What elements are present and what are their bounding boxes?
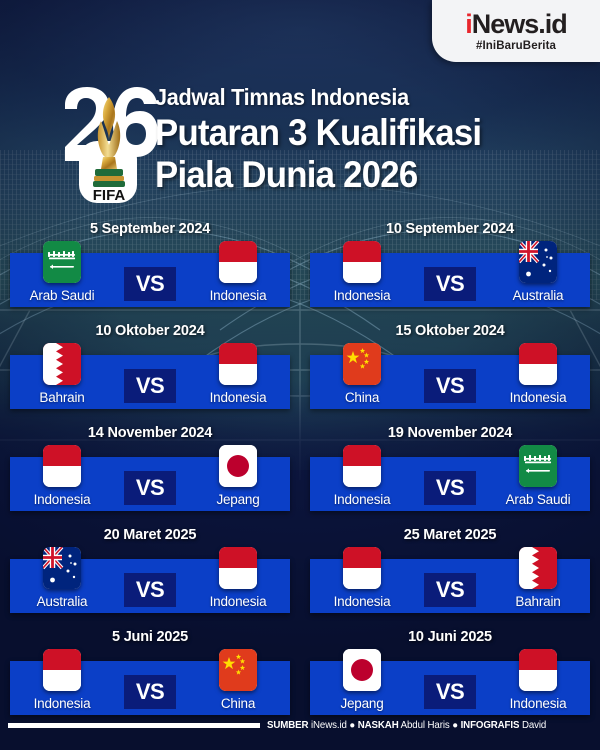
match-date: 5 September 2024 [10,218,290,240]
match-row: 10 Oktober 2024 BahrainVSIndonesia15 Okt… [0,320,600,409]
flag-id-icon [519,343,557,385]
away-team: Arab Saudi [492,493,584,507]
away-team-name: Arab Saudi [506,493,571,507]
row-spacer [0,613,600,626]
flag-id-icon [219,241,257,283]
flag-jp-icon [219,445,257,487]
home-team-name: Indonesia [334,289,391,303]
match-card[interactable]: ChinaVSIndonesia [310,355,590,409]
row-spacer [0,511,600,524]
away-team: Jepang [192,493,284,507]
match-card[interactable]: JepangVSIndonesia [310,661,590,715]
vs-label: VS [136,477,164,499]
away-team: Bahrain [492,595,584,609]
away-team-name: Jepang [216,493,259,507]
home-team-name: Bahrain [39,391,84,405]
home-team: China [316,391,408,405]
home-team-name: Indonesia [34,493,91,507]
row-spacer [0,409,600,422]
match-schedule-grid: 5 September 2024 Arab SaudiVSIndonesia10… [0,218,600,715]
home-team-name: Indonesia [34,697,91,711]
title-kicker: Jadwal Timnas Indonesia [155,85,569,110]
footer-credits: SUMBER iNews.id ● NASKAH Abdul Haris ● I… [0,717,600,733]
footer-source-value: iNews.id [311,720,347,731]
home-team-name: Jepang [340,697,383,711]
vs-badge: VS [424,573,476,607]
match-date: 14 November 2024 [10,422,290,444]
vs-badge: VS [124,471,176,505]
home-team: Indonesia [16,697,108,711]
footer-writer-label: NASKAH [358,720,399,731]
away-team-name: Indonesia [210,391,267,405]
match-row: 5 Juni 2025IndonesiaVS China10 Juni 2025… [0,626,600,715]
match-date: 19 November 2024 [310,422,590,444]
match-card[interactable]: BahrainVSIndonesia [10,355,290,409]
home-team-name: Indonesia [334,595,391,609]
away-team: Indonesia [192,595,284,609]
match-cell: 5 Juni 2025IndonesiaVS China [0,626,300,715]
vs-label: VS [136,579,164,601]
home-team-name: Indonesia [334,493,391,507]
match-date: 25 Maret 2025 [310,524,590,546]
vs-label: VS [436,579,464,601]
flag-id-icon [43,649,81,691]
home-team-name: Australia [37,595,88,609]
brand-name-rest: News.id [472,9,567,39]
flag-jp-icon [343,649,381,691]
vs-label: VS [136,273,164,295]
footer-source-label: SUMBER [267,720,308,731]
footer-writer-value: Abdul Haris [401,720,450,731]
match-row: 5 September 2024 Arab SaudiVSIndonesia10… [0,218,600,307]
match-cell: 14 November 2024IndonesiaVSJepang [0,422,300,511]
flag-bh-icon [43,343,81,385]
home-team: Indonesia [316,595,408,609]
vs-badge: VS [424,471,476,505]
match-cell: 10 September 2024IndonesiaVS Australia [300,218,600,307]
vs-badge: VS [124,267,176,301]
home-team-name: Arab Saudi [30,289,95,303]
vs-label: VS [436,477,464,499]
inews-brand-logo[interactable]: iNews.id #IniBaruBerita [432,0,600,62]
home-team: Jepang [316,697,408,711]
vs-badge: VS [124,675,176,709]
match-date: 10 September 2024 [310,218,590,240]
match-card[interactable]: IndonesiaVS Bahrain [310,559,590,613]
away-team: China [192,697,284,711]
home-team: Arab Saudi [16,289,108,303]
flag-sa-icon [43,241,81,283]
match-cell: 5 September 2024 Arab SaudiVSIndonesia [0,218,300,307]
away-team: Indonesia [192,289,284,303]
away-team: Indonesia [492,697,584,711]
away-team-name: Indonesia [510,697,567,711]
flag-cn-icon [343,343,381,385]
title-block: Jadwal Timnas Indonesia Putaran 3 Kualif… [155,85,595,194]
match-cell: 10 Oktober 2024 BahrainVSIndonesia [0,320,300,409]
vs-label: VS [436,273,464,295]
flag-id-icon [343,547,381,589]
match-card[interactable]: IndonesiaVS China [10,661,290,715]
fifa-world-cup-26-logo: FIFA [57,83,161,209]
footer-separator-1: ● [349,720,355,731]
match-date: 20 Maret 2025 [10,524,290,546]
match-card[interactable]: IndonesiaVSJepang [10,457,290,511]
match-cell: 20 Maret 2025 AustraliaVSIndonesia [0,524,300,613]
match-card[interactable]: IndonesiaVS Arab Saudi [310,457,590,511]
match-date: 5 Juni 2025 [10,626,290,648]
brand-wordmark: iNews.id [465,11,567,38]
away-team-name: Bahrain [515,595,560,609]
footer-separator-2: ● [452,720,458,731]
away-team: Indonesia [492,391,584,405]
match-card[interactable]: AustraliaVSIndonesia [10,559,290,613]
away-team-name: Australia [513,289,564,303]
match-card[interactable]: Arab SaudiVSIndonesia [10,253,290,307]
footer-rule [8,723,260,728]
flag-sa-icon [519,445,557,487]
home-team: Indonesia [16,493,108,507]
title-line-2: Piala Dunia 2026 [155,155,569,194]
flag-bh-icon [519,547,557,589]
vs-label: VS [136,681,164,703]
flag-id-icon [43,445,81,487]
vs-badge: VS [424,369,476,403]
row-spacer [0,307,600,320]
flag-id-icon [219,547,257,589]
away-team-name: Indonesia [210,289,267,303]
match-date: 10 Oktober 2024 [10,320,290,342]
match-row: 20 Maret 2025 AustraliaVSIndonesia25 Mar… [0,524,600,613]
away-team-name: Indonesia [210,595,267,609]
home-team: Indonesia [316,493,408,507]
flag-id-icon [343,445,381,487]
match-cell: 10 Juni 2025JepangVSIndonesia [300,626,600,715]
match-cell: 15 Oktober 2024 ChinaVSIndonesia [300,320,600,409]
home-team-name: China [345,391,379,405]
match-date: 10 Juni 2025 [310,626,590,648]
match-cell: 19 November 2024IndonesiaVS Arab Saudi [300,422,600,511]
footer-credit-text: SUMBER iNews.id ● NASKAH Abdul Haris ● I… [267,720,546,731]
home-team: Indonesia [316,289,408,303]
away-team: Indonesia [192,391,284,405]
flag-id-icon [343,241,381,283]
vs-badge: VS [424,675,476,709]
fifa-logo-text: FIFA [93,187,126,204]
vs-label: VS [436,681,464,703]
match-date: 15 Oktober 2024 [310,320,590,342]
vs-label: VS [136,375,164,397]
infographic-page: iNews.id #IniBaruBerita [0,0,600,750]
match-card[interactable]: IndonesiaVS Australia [310,253,590,307]
footer-graphics-value: David [522,720,546,731]
flag-id-icon [519,649,557,691]
footer-graphics-label: INFOGRAFIS [461,720,520,731]
flag-au-icon [519,241,557,283]
match-row: 14 November 2024IndonesiaVSJepang19 Nove… [0,422,600,511]
flag-id-icon [219,343,257,385]
away-team-name: China [221,697,255,711]
vs-badge: VS [124,369,176,403]
flag-au-icon [43,547,81,589]
away-team-name: Indonesia [510,391,567,405]
vs-badge: VS [124,573,176,607]
vs-badge: VS [424,267,476,301]
vs-label: VS [436,375,464,397]
away-team: Australia [492,289,584,303]
home-team: Australia [16,595,108,609]
flag-cn-icon [219,649,257,691]
brand-tagline: #IniBaruBerita [476,40,556,52]
title-line-1: Putaran 3 Kualifikasi [155,113,569,152]
home-team: Bahrain [16,391,108,405]
match-cell: 25 Maret 2025IndonesiaVS Bahrain [300,524,600,613]
